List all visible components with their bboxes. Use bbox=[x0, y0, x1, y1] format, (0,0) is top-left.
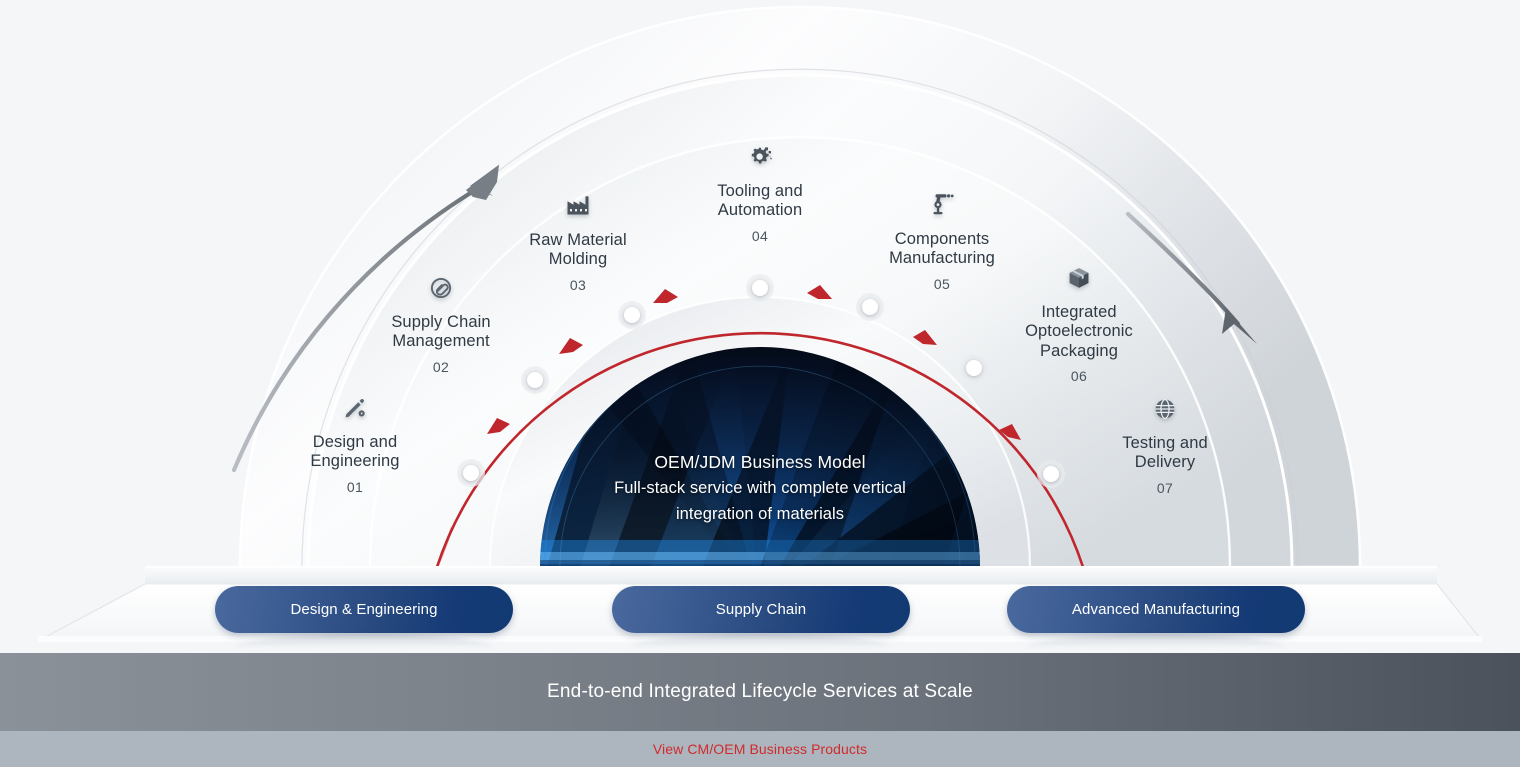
step-raw-material-molding[interactable]: Raw Material Molding 03 bbox=[478, 194, 678, 293]
step-number: 06 bbox=[979, 368, 1179, 385]
step-number: 01 bbox=[255, 479, 455, 496]
pill-design-and-engineering[interactable]: Design & Engineering bbox=[215, 586, 513, 633]
step-number: 04 bbox=[660, 228, 860, 245]
infographic-stage: Design and Engineering 01 Supply Chain M… bbox=[0, 0, 1520, 767]
banner-text: End-to-end Integrated Lifecycle Services… bbox=[547, 681, 973, 703]
globe-icon bbox=[1065, 397, 1265, 427]
step-testing-and-delivery[interactable]: Testing and Delivery 07 bbox=[1065, 397, 1265, 496]
step-title-line3: Packaging bbox=[1040, 342, 1118, 360]
step-design-and-engineering[interactable]: Design and Engineering 01 bbox=[255, 396, 455, 495]
step-integrated-optoelectronic-packaging[interactable]: Integrated Optoelectronic Packaging 06 bbox=[979, 266, 1179, 385]
pencil-ruler-icon bbox=[255, 396, 455, 426]
step-title-line2: Engineering bbox=[310, 452, 399, 470]
step-title-line1: Tooling and bbox=[717, 182, 803, 200]
step-title-line1: Components bbox=[895, 230, 990, 248]
step-title-line2: Manufacturing bbox=[889, 249, 995, 267]
step-title-line1: Supply Chain bbox=[391, 313, 490, 331]
step-title-line1: Raw Material bbox=[529, 231, 626, 249]
bottom-banner: End-to-end Integrated Lifecycle Services… bbox=[0, 653, 1520, 731]
step-title-line1: Integrated bbox=[1041, 303, 1116, 321]
step-title-line2: Automation bbox=[718, 201, 802, 219]
step-title-line2: Optoelectronic bbox=[1025, 322, 1133, 340]
dome-graphic bbox=[0, 0, 1520, 767]
step-number: 07 bbox=[1065, 480, 1265, 497]
step-title-line2: Delivery bbox=[1135, 453, 1195, 471]
step-number: 02 bbox=[341, 359, 541, 376]
pill-supply-chain[interactable]: Supply Chain bbox=[612, 586, 910, 633]
pill-advanced-manufacturing[interactable]: Advanced Manufacturing bbox=[1007, 586, 1305, 633]
step-number: 03 bbox=[478, 277, 678, 294]
gears-icon bbox=[660, 145, 860, 175]
step-title-line1: Design and bbox=[313, 433, 397, 451]
step-tooling-and-automation[interactable]: Tooling and Automation 04 bbox=[660, 145, 860, 244]
view-products-link[interactable]: View CM/OEM Business Products bbox=[653, 741, 867, 757]
step-title-line2: Molding bbox=[549, 250, 607, 268]
category-pill-group: Design & Engineering Supply Chain Advanc… bbox=[0, 586, 1520, 634]
step-title-line1: Testing and bbox=[1122, 434, 1208, 452]
factory-icon bbox=[478, 194, 678, 224]
package-box-icon bbox=[979, 266, 1179, 296]
bottom-link-bar: View CM/OEM Business Products bbox=[0, 731, 1520, 767]
robot-arm-icon bbox=[842, 193, 1042, 223]
step-title-line2: Management bbox=[392, 332, 489, 350]
